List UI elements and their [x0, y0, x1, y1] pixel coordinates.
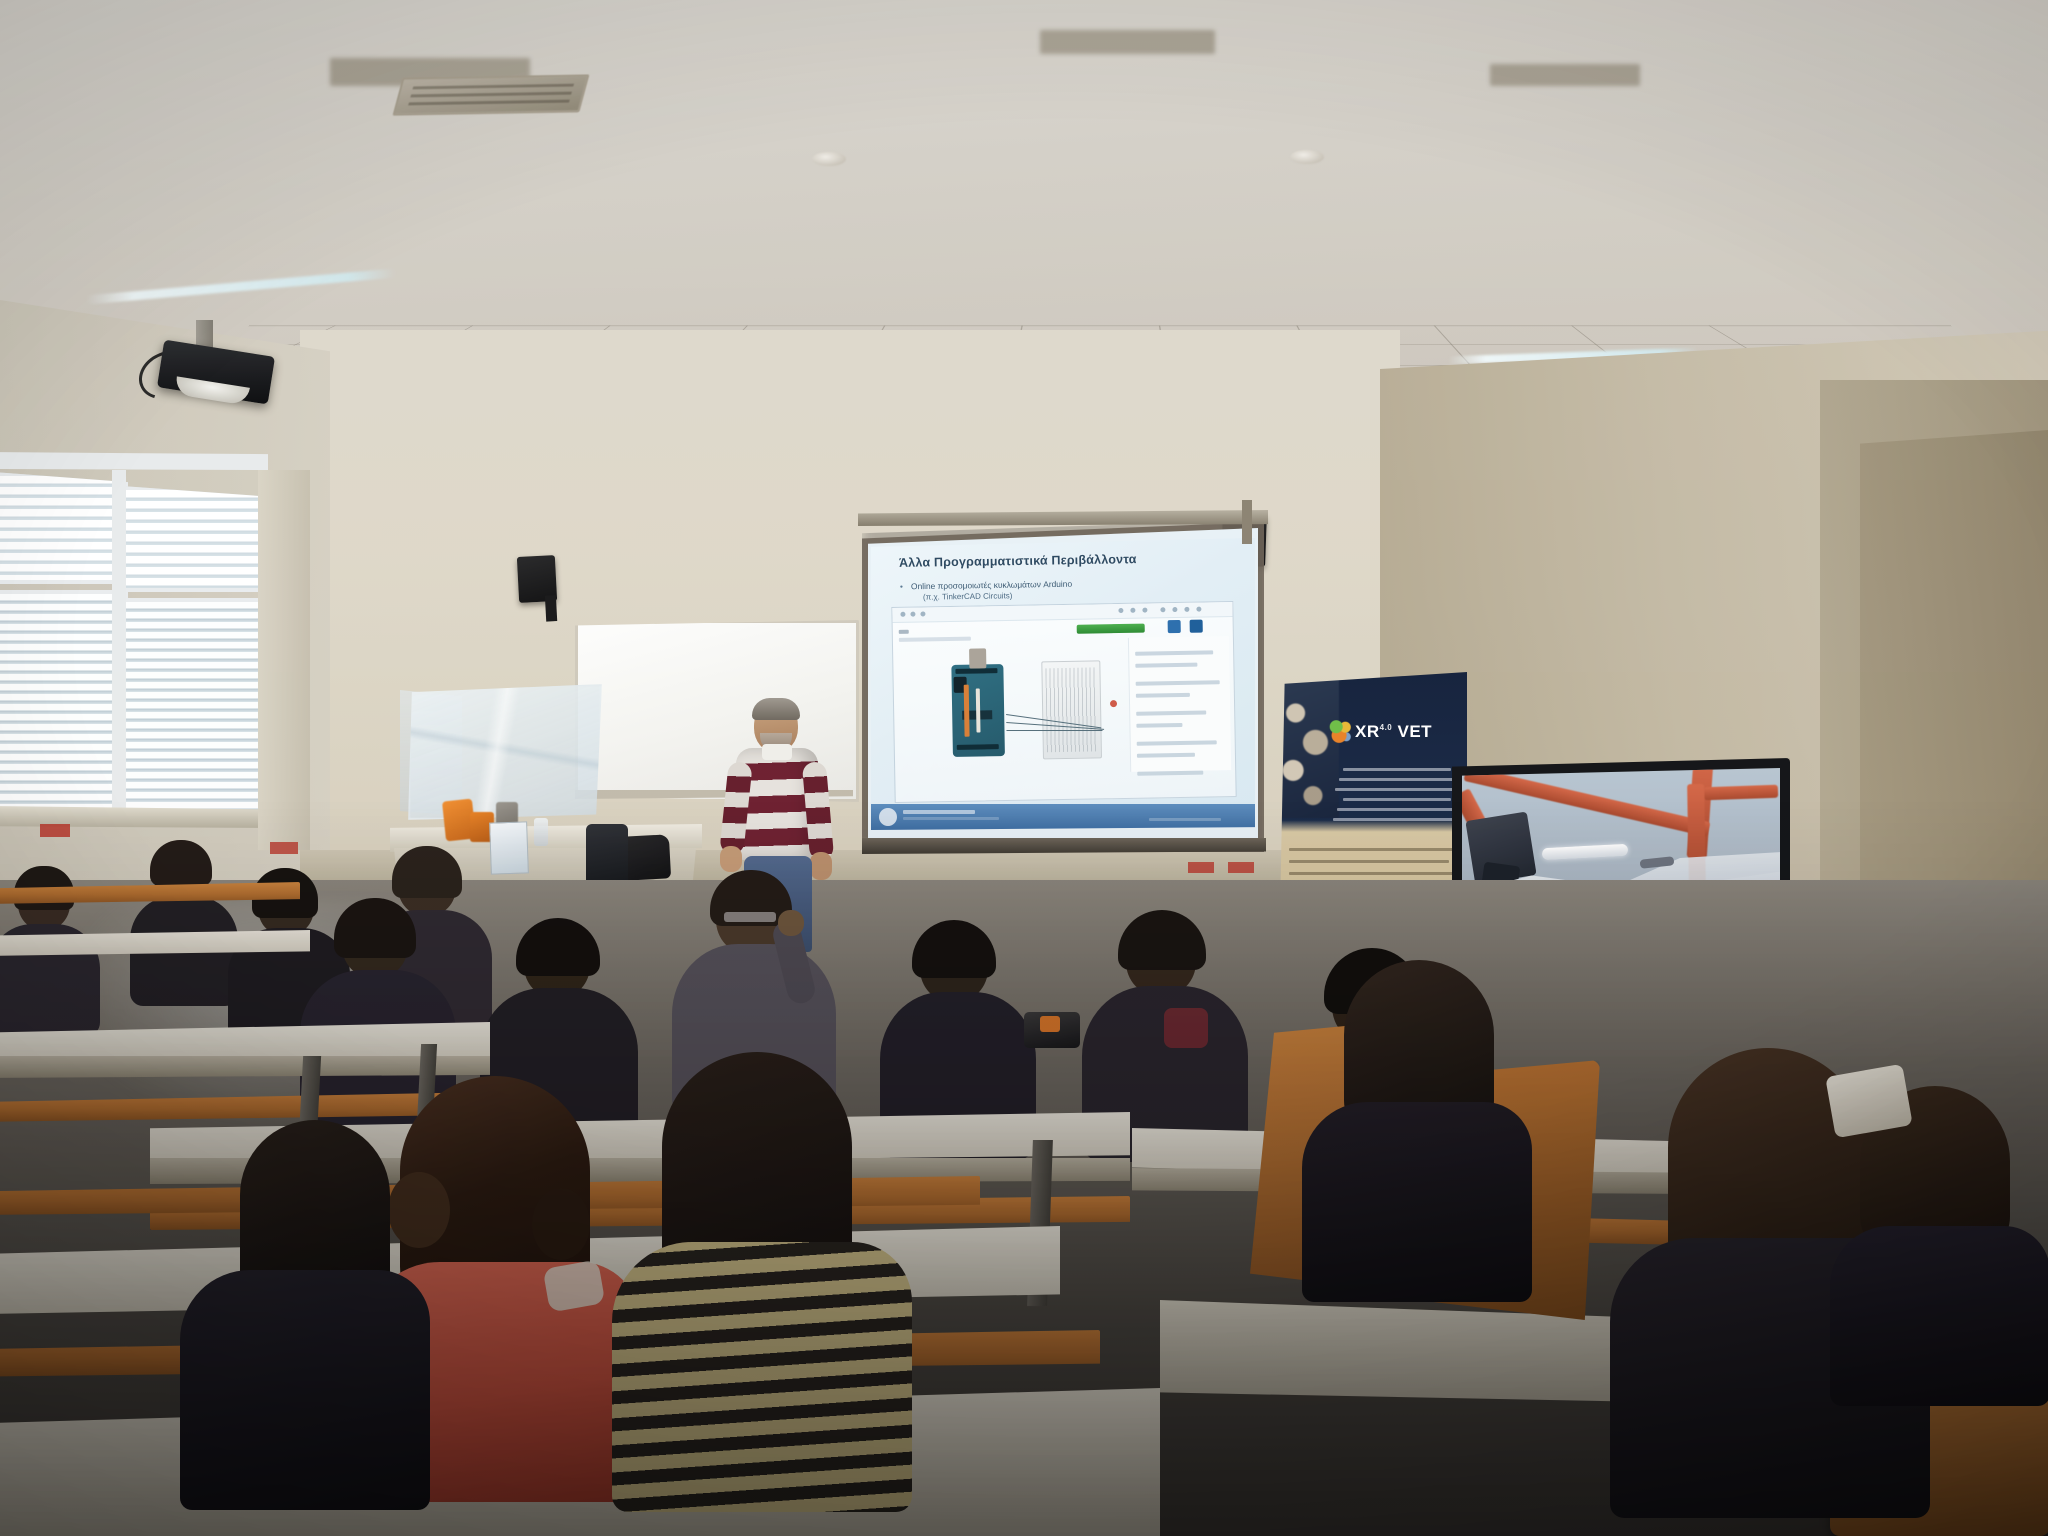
- projection-screen: Άλλα Προγραμματιστικά Περιβάλλοντα Onlin…: [868, 528, 1258, 844]
- window-blind[interactable]: [0, 594, 124, 812]
- window-blind[interactable]: [0, 476, 124, 580]
- window-mullion: [112, 470, 126, 818]
- student-torso: [1302, 1102, 1532, 1302]
- slide-footer: [871, 804, 1255, 830]
- student-hand: [778, 910, 804, 936]
- student-hair: [150, 840, 212, 886]
- student-torso: [180, 1270, 430, 1510]
- classroom-scene: Άλλα Προγραμματιστικά Περιβάλλοντα Onlin…: [0, 0, 2048, 1536]
- dark-chair-front: [586, 824, 628, 888]
- window-blind[interactable]: [126, 602, 264, 816]
- xr-vet-logo-dots-icon: [1329, 720, 1353, 744]
- ceiling-light-1: [86, 269, 396, 305]
- wall-marker-mid: [270, 842, 298, 854]
- smoke-detector-1: [812, 152, 846, 166]
- presenter-collar: [762, 744, 792, 760]
- wall-marker-right: [1188, 862, 1214, 873]
- student-torso: [1830, 1226, 2048, 1406]
- desk-row-2-edge: [0, 1056, 490, 1078]
- ceiling-vent-left: [392, 74, 589, 115]
- simulate-button[interactable]: [1077, 624, 1145, 634]
- left-wall-return: [258, 470, 310, 850]
- student-right-mid: [1312, 960, 1532, 1290]
- tinkercad-screenshot: [891, 601, 1236, 803]
- window-upper-right[interactable]: [122, 486, 268, 592]
- presentation-slide: Άλλα Προγραμματιστικά Περιβάλλοντα Onlin…: [871, 538, 1255, 830]
- student-front-dark-left: [200, 1120, 430, 1500]
- smoke-detector-2: [1290, 150, 1324, 164]
- usb-connector: [969, 648, 986, 668]
- slide-bullet-1: Online προσομοιωτές κυκλωμάτων Arduino: [911, 579, 1072, 592]
- acrylic-display-panel: [408, 684, 602, 820]
- screen-bottom-bar: [862, 838, 1266, 854]
- arduino-board-graphic: [951, 664, 1005, 757]
- screen-wall-bracket: [1242, 500, 1252, 544]
- banner-photo-collage: [1277, 678, 1339, 818]
- institution-logo: [879, 808, 897, 826]
- slide-subpoint-1: (π.χ. TinkerCAD Circuits): [923, 591, 1013, 601]
- tinkercad-toolbar: [892, 602, 1232, 623]
- presenter-hair: [752, 698, 800, 720]
- wall-marker-right2: [1228, 862, 1254, 873]
- xr-vet-logo-text: XR4.0 VET: [1355, 722, 1432, 742]
- logo-xr: XR: [1355, 722, 1380, 741]
- student-hair: [392, 846, 462, 898]
- tinkercad-side-panel: [1128, 636, 1231, 772]
- share-button[interactable]: [1190, 620, 1203, 633]
- window-blind[interactable]: [126, 490, 264, 588]
- window-lower-right[interactable]: [122, 598, 268, 820]
- window-upper-left[interactable]: [0, 472, 128, 584]
- wall-speaker-left: [517, 555, 557, 603]
- logo-vet: VET: [1397, 722, 1432, 741]
- desk-item-orange: [1040, 1016, 1060, 1032]
- component-dot: [1110, 700, 1117, 707]
- hair-curl: [532, 1188, 590, 1260]
- breadboard-graphic: [1041, 660, 1102, 759]
- slide-title: Άλλα Προγραμματιστικά Περιβάλλοντα: [899, 552, 1137, 570]
- presenter-hand-right: [810, 852, 832, 880]
- student-front-striped: [628, 1052, 928, 1512]
- presenter-hand-left: [720, 846, 742, 872]
- student-top-striped: [612, 1242, 912, 1512]
- window-lower-left[interactable]: [0, 590, 128, 816]
- logo-version: 4.0: [1380, 723, 1393, 732]
- wall-marker-left: [40, 824, 70, 837]
- window-header-rail: [0, 452, 268, 470]
- student-glasses-icon: [724, 912, 776, 922]
- student-far-right: [1850, 1086, 2048, 1386]
- student-scarf: [1164, 1008, 1208, 1048]
- demo-small-bottle: [534, 818, 548, 846]
- code-button[interactable]: [1168, 620, 1181, 633]
